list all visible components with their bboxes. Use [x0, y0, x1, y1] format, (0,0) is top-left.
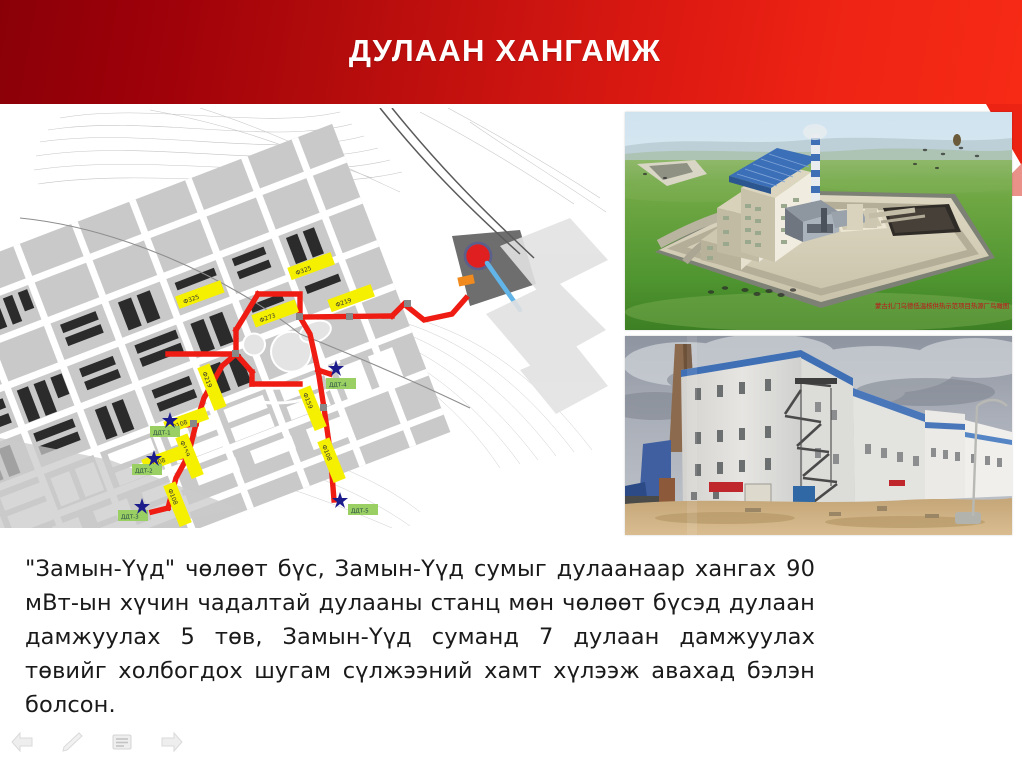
presentation-slide: ДУЛААН ХАНГАМЖ: [0, 0, 1022, 764]
heating-network-map: Ф325 Ф273 Ф219 Ф325 Ф219 Ф159 Ф108 Ф108 …: [0, 108, 610, 528]
svg-text:ДДТ-1: ДДТ-1: [153, 431, 171, 437]
heating-plant-construction-photo: [625, 336, 1012, 535]
photo-caption: 蒙古扎门乌德低温核供热示范项目热源厂鸟瞰图: [875, 301, 1009, 310]
heating-plant-3d-rendering: 蒙古扎门乌德低温核供热示范项目热源厂鸟瞰图: [625, 112, 1012, 330]
menu-icon[interactable]: [110, 731, 134, 753]
map-graphic: Ф325 Ф273 Ф219 Ф325 Ф219 Ф159 Ф108 Ф108 …: [0, 108, 610, 528]
slide-header-banner: ДУЛААН ХАНГАМЖ: [0, 0, 1022, 104]
pen-icon[interactable]: [60, 731, 84, 753]
presentation-toolbar[interactable]: [10, 727, 210, 757]
back-arrow-icon[interactable]: [10, 731, 34, 753]
svg-text:ДДТ-5: ДДТ-5: [351, 509, 369, 515]
plant-photo-graphic: [625, 336, 1012, 535]
svg-text:ДДТ-3: ДДТ-3: [121, 515, 139, 521]
svg-text:ДДТ-2: ДДТ-2: [135, 469, 153, 475]
page-title: ДУЛААН ХАНГАМЖ: [0, 33, 1010, 69]
plant-rendering-graphic: 蒙古扎门乌德低温核供热示范项目热源厂鸟瞰图: [625, 112, 1012, 330]
svg-text:ДДТ-4: ДДТ-4: [329, 383, 347, 389]
forward-arrow-icon[interactable]: [160, 731, 184, 753]
slide-body-text: "Замын-Үүд" чөлөөт бүс, Замын-Үүд сумыг …: [25, 552, 815, 722]
